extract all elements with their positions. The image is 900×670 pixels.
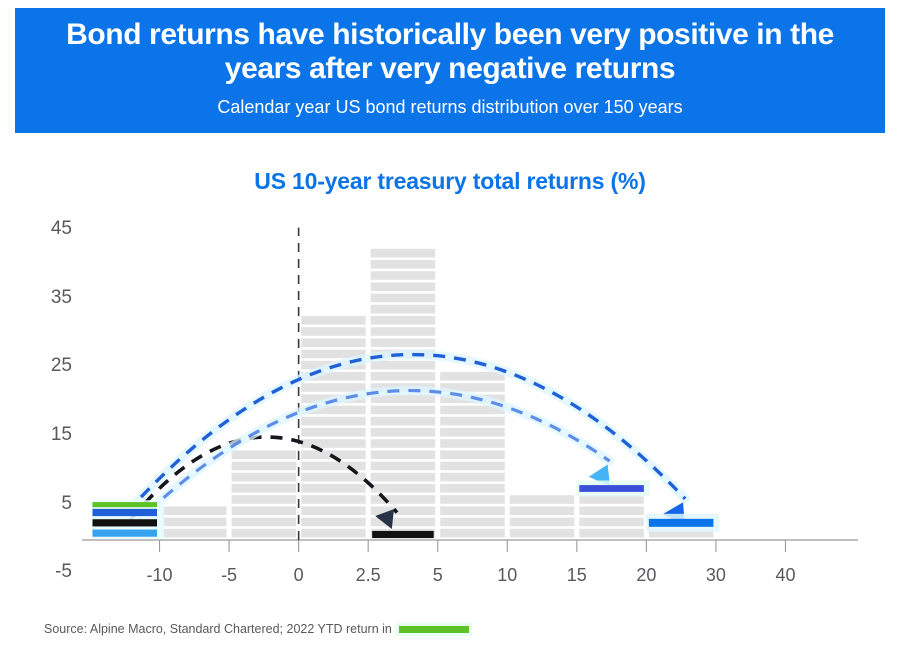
bar-stripe [162,529,227,538]
histogram-bar [232,450,297,537]
bar-stripe [371,417,436,426]
banner-title: Bond returns have historically been very… [35,18,865,85]
marker-blue [93,509,158,516]
histogram-bar [301,316,366,537]
bar-stripe [510,506,575,515]
marker-black [93,519,158,526]
bar-stripe [232,450,297,459]
bar-stripe [371,450,436,459]
bar-stripe [301,484,366,493]
y-axis-tick-label: 35 [12,287,72,309]
bar-stripe [232,506,297,515]
x-axis-tick-label: 20 [616,565,676,586]
marker-bar-15-20 [579,485,644,492]
bar-stripe [440,473,505,482]
bar-stripe [440,428,505,437]
x-axis-tick-label: -5 [199,565,259,586]
bar-stripe [162,518,227,527]
bar-stripe [301,462,366,471]
bar-stripe [371,372,436,381]
bar-stripe [440,450,505,459]
bar-stripe [510,518,575,527]
bar-stripe [301,529,366,538]
chart-plot-area [0,200,900,600]
bar-stripe [371,506,436,515]
marker-lightblue [93,530,158,537]
bar-stripe [440,506,505,515]
x-axis-tick-label: 10 [477,565,537,586]
marker-bar-20-30 [649,519,714,527]
banner-subtitle: Calendar year US bond returns distributi… [217,97,682,119]
bar-stripe [510,495,575,504]
header-banner: Bond returns have historically been very… [15,8,885,133]
bar-stripe [301,428,366,437]
bar-stripe [371,260,436,269]
bar-stripe [440,518,505,527]
bar-stripe [579,529,644,538]
bar-stripe [371,361,436,370]
y-axis-tick-label: 15 [12,424,72,446]
bar-stripe [510,529,575,538]
x-axis-tick-label: 40 [755,565,815,586]
chart-title: US 10-year treasury total returns (%) [0,168,900,195]
bar-stripe [301,506,366,515]
source-note: Source: Alpine Macro, Standard Chartered… [44,622,392,636]
bar-stripe [371,249,436,258]
bar-stripe [371,305,436,314]
bar-stripe [371,271,436,280]
bar-stripe [440,484,505,493]
screenshot-root: Bond returns have historically been very… [0,0,900,670]
bar-stripe [232,462,297,471]
y-axis-tick-label: 25 [12,355,72,377]
bar-stripe [440,495,505,504]
x-axis-tick-label: 15 [547,565,607,586]
bar-stripe [232,473,297,482]
marker-bar-2.5-5 [372,531,434,538]
footer: Source: Alpine Macro, Standard Chartered… [44,622,864,636]
bar-stripe [371,282,436,291]
y-axis-tick-label: -5 [12,561,72,583]
bar-stripe [371,338,436,347]
chart-svg [0,200,900,600]
x-axis-tick-label: -10 [130,565,190,586]
bar-stripe [162,506,227,515]
bar-stripe [371,406,436,415]
bar-stripe [579,506,644,515]
bar-stripe [579,518,644,527]
x-axis-tick-label: 2.5 [338,565,398,586]
bar-stripe [232,518,297,527]
bar-stripe [440,462,505,471]
bar-stripe [371,327,436,336]
bar-stripe [440,417,505,426]
bar-stripe [301,495,366,504]
bar-stripe [371,428,436,437]
bar-stripe [232,529,297,538]
bar-stripe [301,316,366,325]
bar-stripe [301,439,366,448]
bar-stripe [371,294,436,303]
bar-stripe [371,462,436,471]
x-axis-tick-label: 0 [269,565,329,586]
bar-stripe [440,372,505,381]
histogram-bar [162,506,227,537]
bar-stripe [301,338,366,347]
bar-stripe [371,439,436,448]
histogram-bar [579,495,644,537]
bar-stripe [232,484,297,493]
bar-stripe [371,473,436,482]
y-axis-tick-label: 45 [12,218,72,240]
bar-stripe [232,495,297,504]
bar-stripe [301,383,366,392]
x-axis-tick-label: 30 [686,565,746,586]
bar-stripe [371,316,436,325]
bar-stripe [301,518,366,527]
bar-stripe [301,327,366,336]
bar-stripe [440,529,505,538]
bar-stripe [301,417,366,426]
y-axis-tick-label: 5 [12,493,72,515]
legend-swatch-2022-ytd [399,626,469,633]
bar-stripe [371,484,436,493]
bar-stripe [440,439,505,448]
x-axis-tick-label: 5 [408,565,468,586]
histogram-bar [510,495,575,537]
